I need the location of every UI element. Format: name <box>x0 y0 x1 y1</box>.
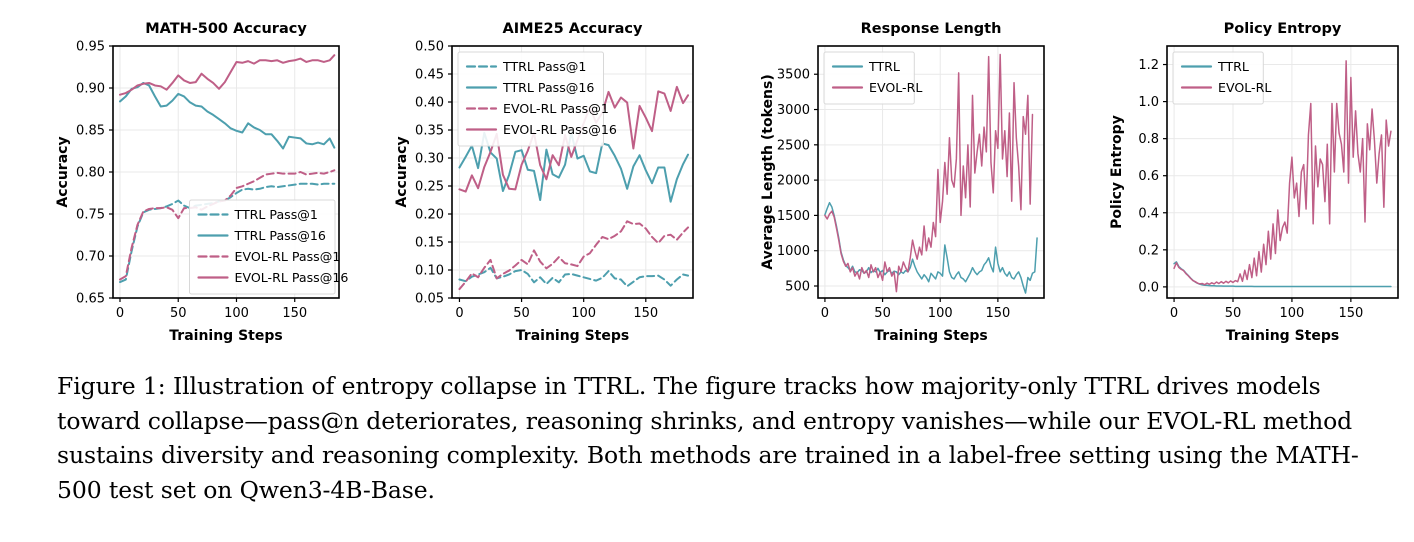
chart-title: MATH-500 Accuracy <box>145 21 307 37</box>
y-tick-label: 0.90 <box>76 82 105 97</box>
legend-label: EVOL-RL Pass@16 <box>235 270 349 285</box>
chart-aime25: 0.050.100.150.200.250.300.350.400.450.50… <box>353 0 706 355</box>
x-tick-label: 50 <box>874 306 891 321</box>
y-tick-label: 0.30 <box>415 152 444 167</box>
y-tick-label: 0.95 <box>76 40 105 55</box>
legend: TTRLEVOL-RL <box>1173 52 1271 104</box>
chart-title: AIME25 Accuracy <box>503 21 643 37</box>
legend-label: TTRL <box>868 59 900 74</box>
legend: TTRL Pass@1TTRL Pass@16EVOL-RL Pass@1EVO… <box>458 52 617 146</box>
legend-label: TTRL Pass@16 <box>234 228 326 243</box>
y-axis-label: Accuracy <box>55 136 71 207</box>
y-tick-label: 0.2 <box>1138 243 1159 258</box>
x-axis-label: Training Steps <box>874 328 987 344</box>
y-tick-label: 0.85 <box>76 124 105 139</box>
y-tick-label: 0.25 <box>415 180 444 195</box>
x-tick-label: 50 <box>170 306 187 321</box>
chart-panel-math500: 0.650.700.750.800.850.900.95050100150MAT… <box>0 0 353 355</box>
y-tick-label: 1500 <box>777 209 810 224</box>
legend-label: TTRL <box>1217 59 1249 74</box>
x-tick-label: 50 <box>1225 306 1242 321</box>
x-axis-label: Training Steps <box>169 328 282 344</box>
y-tick-label: 500 <box>785 280 810 295</box>
x-tick-label: 50 <box>513 306 530 321</box>
x-tick-label: 100 <box>224 306 249 321</box>
x-tick-label: 150 <box>1338 306 1363 321</box>
x-tick-label: 150 <box>282 306 307 321</box>
chart-math500: 0.650.700.750.800.850.900.95050100150MAT… <box>0 0 353 355</box>
legend-label: EVOL-RL <box>869 80 922 95</box>
y-tick-label: 0.65 <box>76 292 105 307</box>
y-tick-label: 0.20 <box>415 208 444 223</box>
y-tick-label: 0.35 <box>415 124 444 139</box>
y-tick-label: 0.10 <box>415 264 444 279</box>
x-tick-label: 150 <box>985 306 1010 321</box>
x-axis-label: Training Steps <box>1226 328 1339 344</box>
y-tick-label: 0.8 <box>1138 132 1159 147</box>
y-tick-label: 0.15 <box>415 236 444 251</box>
x-tick-label: 0 <box>455 306 463 321</box>
y-tick-label: 3500 <box>777 68 810 83</box>
legend-label: EVOL-RL Pass@1 <box>235 249 341 264</box>
chart-panel-response-length: 500100015002000250030003500050100150Resp… <box>706 0 1059 355</box>
legend-label: EVOL-RL Pass@1 <box>503 101 609 116</box>
chart-response_length: 500100015002000250030003500050100150Resp… <box>706 0 1059 355</box>
chart-title: Policy Entropy <box>1224 21 1342 37</box>
x-tick-label: 100 <box>571 306 596 321</box>
chart-panel-aime25: 0.050.100.150.200.250.300.350.400.450.50… <box>353 0 706 355</box>
legend-label: TTRL Pass@1 <box>502 59 586 74</box>
chart-policy_entropy: 0.00.20.40.60.81.01.2050100150Policy Ent… <box>1059 0 1412 355</box>
x-tick-label: 0 <box>116 306 124 321</box>
y-tick-label: 1.0 <box>1138 95 1159 110</box>
legend: TTRLEVOL-RL <box>824 52 922 104</box>
chart-title: Response Length <box>861 21 1002 37</box>
figure-root: 0.650.700.750.800.850.900.95050100150MAT… <box>0 0 1414 542</box>
y-tick-label: 0.4 <box>1138 206 1159 221</box>
y-tick-label: 1.2 <box>1138 58 1159 73</box>
legend-label: EVOL-RL Pass@16 <box>503 122 617 137</box>
y-tick-label: 0.50 <box>415 40 444 55</box>
legend-label: TTRL Pass@16 <box>502 80 594 95</box>
x-axis-label: Training Steps <box>516 328 629 344</box>
y-tick-label: 3000 <box>777 103 810 118</box>
x-tick-label: 0 <box>1170 306 1178 321</box>
y-tick-label: 0.80 <box>76 166 105 181</box>
legend-label: EVOL-RL <box>1218 80 1271 95</box>
y-tick-label: 0.40 <box>415 96 444 111</box>
y-axis-label: Average Length (tokens) <box>760 74 776 269</box>
y-axis-label: Accuracy <box>394 136 410 207</box>
y-tick-label: 0.45 <box>415 68 444 83</box>
y-tick-label: 0.0 <box>1138 280 1159 295</box>
y-tick-label: 0.05 <box>415 292 444 307</box>
y-tick-label: 0.70 <box>76 250 105 265</box>
legend: TTRL Pass@1TTRL Pass@16EVOL-RL Pass@1EVO… <box>190 200 349 294</box>
y-tick-label: 2000 <box>777 174 810 189</box>
y-tick-label: 2500 <box>777 138 810 153</box>
x-tick-label: 100 <box>928 306 953 321</box>
legend-label: TTRL Pass@1 <box>234 207 318 222</box>
x-tick-label: 100 <box>1280 306 1305 321</box>
y-tick-label: 0.6 <box>1138 169 1159 184</box>
y-axis-label: Policy Entropy <box>1109 115 1125 229</box>
chart-panel-policy-entropy: 0.00.20.40.60.81.01.2050100150Policy Ent… <box>1059 0 1412 355</box>
x-tick-label: 0 <box>821 306 829 321</box>
x-tick-label: 150 <box>633 306 658 321</box>
chart-panel-row: 0.650.700.750.800.850.900.95050100150MAT… <box>0 0 1414 355</box>
y-tick-label: 0.75 <box>76 208 105 223</box>
figure-caption: Figure 1: Illustration of entropy collap… <box>57 369 1359 507</box>
y-tick-label: 1000 <box>777 244 810 259</box>
